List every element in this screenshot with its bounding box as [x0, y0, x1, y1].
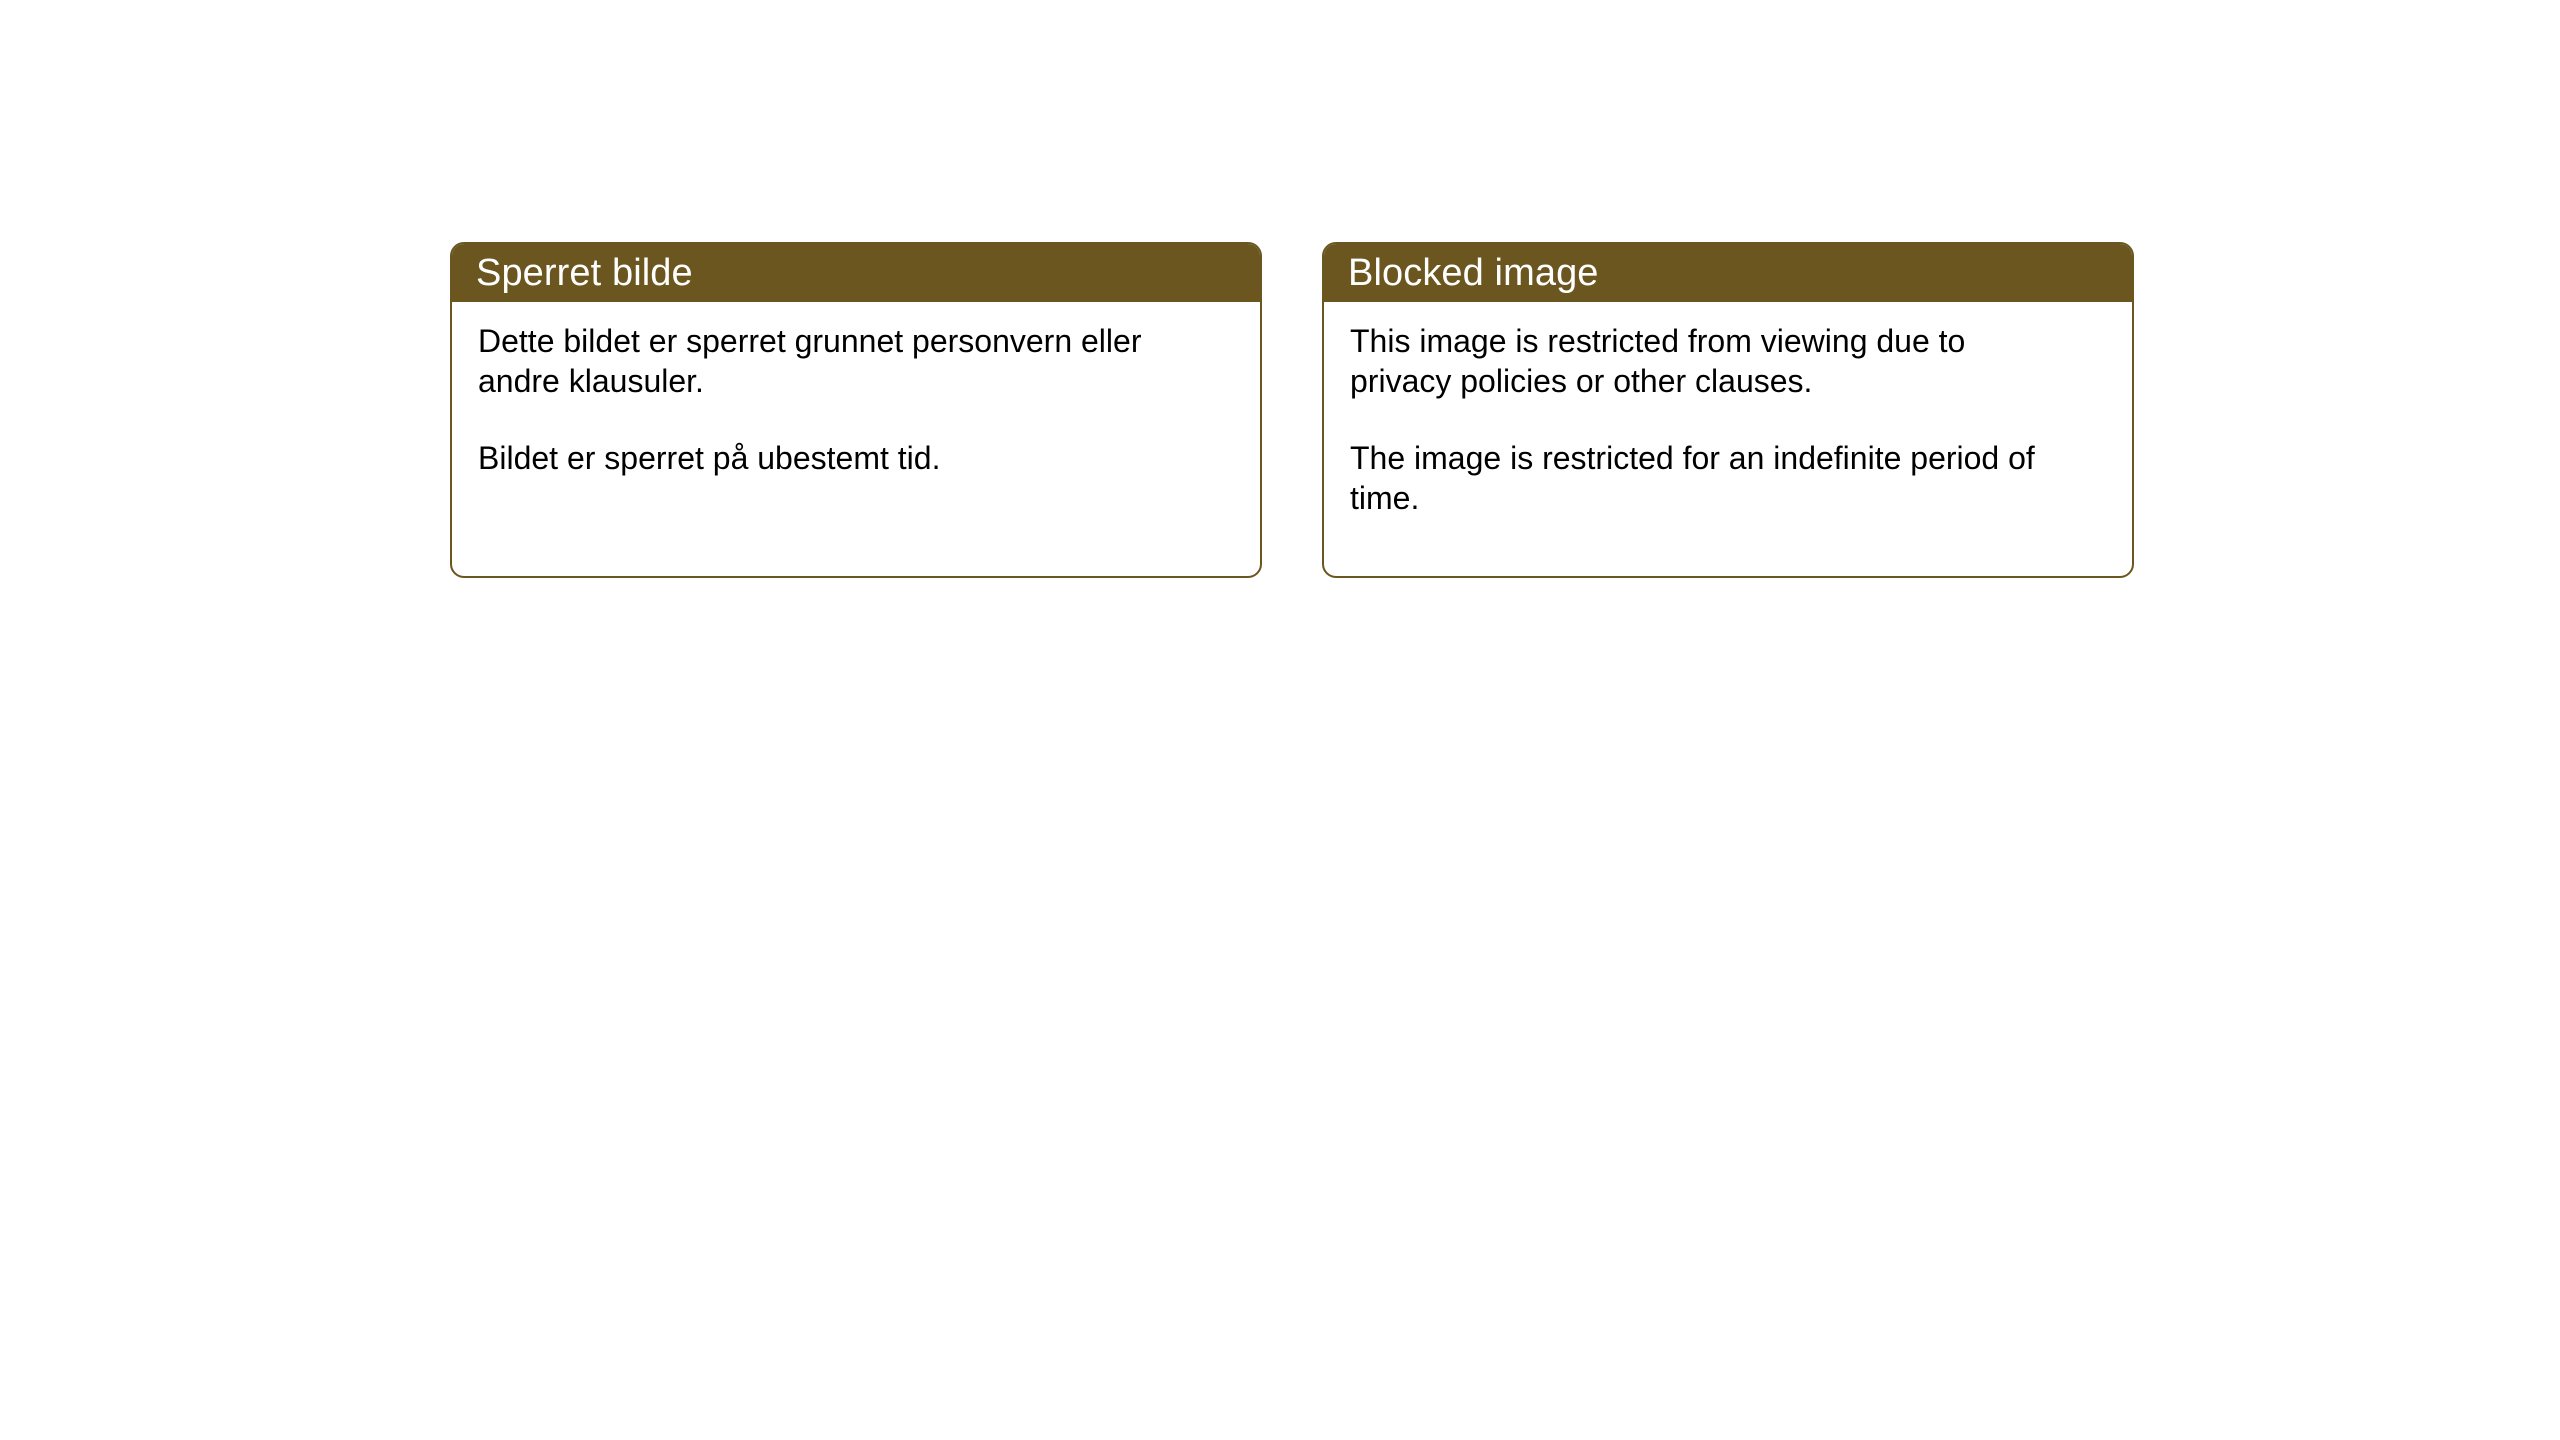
card-body-english: This image is restricted from viewing du…: [1324, 302, 2132, 576]
blocked-image-notice-card-norwegian: Sperret bilde Dette bildet er sperret gr…: [450, 242, 1262, 578]
paragraph-spacer: [1350, 401, 2108, 439]
page-canvas: Sperret bilde Dette bildet er sperret gr…: [0, 0, 2560, 1440]
notice-cards-container: Sperret bilde Dette bildet er sperret gr…: [450, 242, 2134, 578]
card-header-english: Blocked image: [1324, 244, 2132, 302]
card-paragraph-secondary-english: The image is restricted for an indefinit…: [1350, 439, 2070, 518]
card-title-english: Blocked image: [1348, 254, 1599, 292]
card-paragraph-secondary-norwegian: Bildet er sperret på ubestemt tid.: [478, 439, 1198, 479]
paragraph-spacer: [478, 401, 1236, 439]
card-paragraph-primary-norwegian: Dette bildet er sperret grunnet personve…: [478, 322, 1198, 401]
card-paragraph-primary-english: This image is restricted from viewing du…: [1350, 322, 2070, 401]
card-header-norwegian: Sperret bilde: [452, 244, 1260, 302]
card-body-norwegian: Dette bildet er sperret grunnet personve…: [452, 302, 1260, 576]
card-title-norwegian: Sperret bilde: [476, 254, 693, 292]
blocked-image-notice-card-english: Blocked image This image is restricted f…: [1322, 242, 2134, 578]
